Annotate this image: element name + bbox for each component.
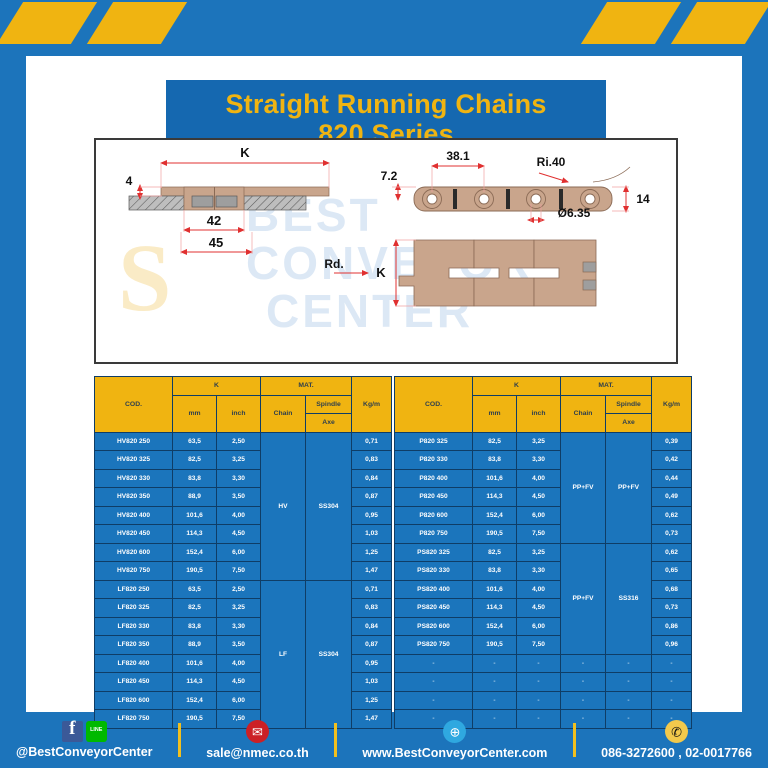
cell-cod: LF820 330: [95, 617, 173, 636]
table-row-empty: ------: [395, 654, 692, 673]
datasheet-panel: Straight Running Chains 820 Series S BES…: [26, 56, 742, 712]
table-row-empty: ------: [395, 673, 692, 692]
cell-kgm: 0,87: [352, 488, 392, 507]
cell-mm: 82,5: [473, 432, 517, 451]
cell-mm: 152,4: [173, 543, 217, 562]
cell-mm: 152,4: [473, 617, 517, 636]
table-header-row: COD. K MAT. Kg/m: [395, 377, 692, 396]
table-row-empty: ------: [395, 691, 692, 710]
cell-spindle-axe: PP+FV: [606, 432, 652, 543]
svg-text:K: K: [240, 145, 250, 160]
cell-kgm: 0,71: [352, 580, 392, 599]
cell-inch: 4,50: [517, 599, 561, 618]
cell-spindle-axe: SS304: [306, 432, 352, 580]
cell-empty: -: [561, 654, 606, 673]
cell-mm: 114,3: [473, 599, 517, 618]
cell-mm: 101,6: [473, 469, 517, 488]
phone-icon[interactable]: ✆: [665, 720, 688, 743]
footer-item-social[interactable]: @BestConveyorCenter: [16, 721, 153, 759]
cell-inch: 3,25: [217, 451, 261, 470]
footer-item-email[interactable]: ✉ sale@nmec.co.th: [206, 720, 309, 760]
cell-mm: 101,6: [173, 506, 217, 525]
cell-mm: 88,9: [173, 488, 217, 507]
cell-empty: -: [517, 673, 561, 692]
cell-kgm: 0,84: [352, 617, 392, 636]
cell-cod: P820 325: [395, 432, 473, 451]
cell-kgm: 0,42: [652, 451, 692, 470]
header-axe: Axe: [606, 414, 652, 433]
chevron-shape: [0, 2, 97, 44]
footer-label-website: www.BestConveyorCenter.com: [362, 746, 547, 760]
cell-kgm: 0,49: [652, 488, 692, 507]
cell-cod: P820 400: [395, 469, 473, 488]
cell-mm: 82,5: [173, 451, 217, 470]
cell-inch: 6,00: [517, 506, 561, 525]
cell-kgm: 1,03: [352, 525, 392, 544]
header-kgm: Kg/m: [652, 377, 692, 433]
cell-inch: 3,30: [217, 469, 261, 488]
cell-empty: -: [517, 654, 561, 673]
contact-footer: @BestConveyorCenter ✉ sale@nmec.co.th ⊕ …: [0, 712, 768, 768]
cell-empty: -: [395, 654, 473, 673]
cell-mm: 190,5: [473, 525, 517, 544]
cell-cod: P820 450: [395, 488, 473, 507]
cell-kgm: 0,83: [352, 451, 392, 470]
cell-empty: -: [395, 691, 473, 710]
cell-cod: PS820 325: [395, 543, 473, 562]
cell-inch: 4,00: [217, 506, 261, 525]
svg-text:Ø6.35: Ø6.35: [558, 206, 591, 220]
cell-cod: LF820 450: [95, 673, 173, 692]
cell-mm: 152,4: [473, 506, 517, 525]
cell-cod: HV820 600: [95, 543, 173, 562]
cell-mm: 82,5: [173, 599, 217, 618]
spec-table-right: COD. K MAT. Kg/m mm inch Chain Spindle A…: [394, 376, 692, 729]
cell-mm: 190,5: [473, 636, 517, 655]
footer-item-website[interactable]: ⊕ www.BestConveyorCenter.com: [362, 720, 547, 760]
cell-cod: PS820 600: [395, 617, 473, 636]
cell-empty: -: [473, 691, 517, 710]
cell-inch: 3,30: [217, 617, 261, 636]
cell-kgm: 0,65: [652, 562, 692, 581]
technical-drawing-panel: S BEST CONVEYOR CENTER: [94, 138, 678, 364]
cell-empty: -: [473, 654, 517, 673]
cell-empty: -: [606, 654, 652, 673]
cell-spindle-axe: SS316: [606, 543, 652, 654]
cell-cod: P820 600: [395, 506, 473, 525]
cell-mm: 114,3: [173, 525, 217, 544]
cell-empty: -: [395, 673, 473, 692]
cell-empty: -: [652, 691, 692, 710]
cell-cod: PS820 450: [395, 599, 473, 618]
footer-label-email: sale@nmec.co.th: [206, 746, 309, 760]
cell-kgm: 0,96: [652, 636, 692, 655]
cell-kgm: 0,62: [652, 543, 692, 562]
cell-cod: PS820 750: [395, 636, 473, 655]
header-mat: MAT.: [561, 377, 652, 396]
cell-inch: 2,50: [217, 580, 261, 599]
svg-text:Ri.40: Ri.40: [537, 155, 566, 169]
cell-inch: 4,00: [517, 469, 561, 488]
cell-cod: LF820 400: [95, 654, 173, 673]
cell-cod: HV820 750: [95, 562, 173, 581]
cell-inch: 4,50: [217, 673, 261, 692]
cell-kgm: 0,73: [652, 525, 692, 544]
cell-kgm: 0,84: [352, 469, 392, 488]
cell-inch: 4,00: [217, 654, 261, 673]
cell-mm: 152,4: [173, 691, 217, 710]
chevron-shape: [87, 2, 187, 44]
cell-empty: -: [652, 673, 692, 692]
cell-mm: 83,8: [473, 562, 517, 581]
cell-mm: 114,3: [473, 488, 517, 507]
footer-label-social: @BestConveyorCenter: [16, 745, 153, 759]
svg-text:7.2: 7.2: [381, 169, 398, 183]
cell-empty: -: [473, 673, 517, 692]
cell-mm: 114,3: [173, 673, 217, 692]
footer-divider: [573, 723, 576, 757]
cell-kgm: 0,62: [652, 506, 692, 525]
header-cod: COD.: [395, 377, 473, 433]
cell-chain: PP+FV: [561, 432, 606, 543]
cell-kgm: 1,47: [352, 562, 392, 581]
cell-kgm: 1,03: [352, 673, 392, 692]
cell-cod: LF820 350: [95, 636, 173, 655]
cell-kgm: 0,68: [652, 580, 692, 599]
facebook-icon[interactable]: [62, 721, 83, 742]
cell-inch: 4,00: [517, 580, 561, 599]
spec-table-left-body: HV820 25063,52,50HVSS3040,71HV820 32582,…: [95, 432, 392, 728]
cell-kgm: 1,25: [352, 691, 392, 710]
cell-cod: HV820 400: [95, 506, 173, 525]
cell-cod: PS820 400: [395, 580, 473, 599]
svg-text:Rd.: Rd.: [324, 257, 343, 271]
cell-cod: P820 750: [395, 525, 473, 544]
cell-mm: 63,5: [173, 432, 217, 451]
cell-mm: 83,8: [173, 469, 217, 488]
cell-inch: 4,50: [517, 488, 561, 507]
spec-table-left: COD. K MAT. Kg/m mm inch Chain Spindle A…: [94, 376, 392, 729]
header-chain: Chain: [561, 395, 606, 432]
cell-kgm: 0,95: [352, 506, 392, 525]
cell-mm: 101,6: [473, 580, 517, 599]
cell-kgm: 0,83: [352, 599, 392, 618]
cell-cod: HV820 350: [95, 488, 173, 507]
header-k: K: [473, 377, 561, 396]
header-spindle: Spindle: [306, 395, 352, 414]
header-chain: Chain: [261, 395, 306, 432]
table-row: P820 32582,53,25PP+FVPP+FV0,39: [395, 432, 692, 451]
chevron-shape: [581, 2, 681, 44]
cell-kgm: 0,71: [352, 432, 392, 451]
cell-kgm: 1,25: [352, 543, 392, 562]
cell-inch: 3,25: [517, 543, 561, 562]
spec-table-right-body: P820 32582,53,25PP+FVPP+FV0,39P820 33083…: [395, 432, 692, 728]
cell-inch: 3,25: [517, 432, 561, 451]
cell-chain: HV: [261, 432, 306, 580]
cell-empty: -: [561, 673, 606, 692]
cell-inch: 6,00: [217, 691, 261, 710]
cell-kgm: 0,39: [652, 432, 692, 451]
cell-empty: -: [517, 691, 561, 710]
cell-inch: 3,50: [217, 488, 261, 507]
cell-cod: PS820 330: [395, 562, 473, 581]
svg-text:42: 42: [207, 213, 221, 228]
cell-kgm: 0,44: [652, 469, 692, 488]
chain-drawing: K 4 42 45: [96, 140, 678, 364]
cell-cod: HV820 330: [95, 469, 173, 488]
svg-text:38.1: 38.1: [446, 149, 470, 163]
cell-inch: 3,30: [517, 562, 561, 581]
header-mm: mm: [473, 395, 517, 432]
header-spindle: Spindle: [606, 395, 652, 414]
table-row: HV820 25063,52,50HVSS3040,71: [95, 432, 392, 451]
cell-kgm: 0,73: [652, 599, 692, 618]
footer-divider: [334, 723, 337, 757]
cell-kgm: 0,86: [652, 617, 692, 636]
cell-inch: 3,25: [217, 599, 261, 618]
cell-inch: 4,50: [217, 525, 261, 544]
cell-cod: LF820 600: [95, 691, 173, 710]
line-icon[interactable]: [86, 721, 107, 742]
cell-inch: 6,00: [517, 617, 561, 636]
cell-mm: 83,8: [173, 617, 217, 636]
cell-mm: 82,5: [473, 543, 517, 562]
cell-cod: LF820 325: [95, 599, 173, 618]
cell-inch: 3,30: [517, 451, 561, 470]
cell-inch: 7,50: [517, 525, 561, 544]
cell-kgm: 0,95: [352, 654, 392, 673]
footer-label-phone: 086-3272600 , 02-0017766: [601, 746, 752, 760]
cell-empty: -: [561, 691, 606, 710]
cell-inch: 3,50: [217, 636, 261, 655]
header-k: K: [173, 377, 261, 396]
cell-spindle-axe: SS304: [306, 580, 352, 728]
header-cod: COD.: [95, 377, 173, 433]
cell-cod: LF820 250: [95, 580, 173, 599]
cell-mm: 190,5: [173, 562, 217, 581]
cell-chain: PP+FV: [561, 543, 606, 654]
cell-inch: 2,50: [217, 432, 261, 451]
cell-chain: LF: [261, 580, 306, 728]
cell-mm: 88,9: [173, 636, 217, 655]
chevron-shape: [671, 2, 768, 44]
cell-inch: 6,00: [217, 543, 261, 562]
header-mat: MAT.: [261, 377, 352, 396]
svg-text:4: 4: [126, 174, 133, 188]
header-mm: mm: [173, 395, 217, 432]
footer-item-phone[interactable]: ✆ 086-3272600 , 02-0017766: [601, 720, 752, 760]
cell-empty: -: [652, 654, 692, 673]
cell-inch: 7,50: [517, 636, 561, 655]
cell-cod: HV820 450: [95, 525, 173, 544]
svg-text:K: K: [376, 265, 386, 280]
table-header-row: COD. K MAT. Kg/m: [95, 377, 392, 396]
top-chevron-decoration: [0, 0, 768, 56]
header-inch: inch: [517, 395, 561, 432]
cell-cod: HV820 250: [95, 432, 173, 451]
cell-kgm: 0,87: [352, 636, 392, 655]
svg-text:14: 14: [636, 192, 650, 206]
header-inch: inch: [217, 395, 261, 432]
cell-cod: P820 330: [395, 451, 473, 470]
cell-mm: 63,5: [173, 580, 217, 599]
header-axe: Axe: [306, 414, 352, 433]
email-icon[interactable]: ✉: [246, 720, 269, 743]
cell-empty: -: [606, 673, 652, 692]
cell-mm: 101,6: [173, 654, 217, 673]
svg-text:45: 45: [209, 235, 223, 250]
footer-divider: [178, 723, 181, 757]
table-row: PS820 32582,53,25PP+FVSS3160,62: [395, 543, 692, 562]
cell-empty: -: [606, 691, 652, 710]
cell-mm: 83,8: [473, 451, 517, 470]
cell-cod: HV820 325: [95, 451, 173, 470]
cell-inch: 7,50: [217, 562, 261, 581]
table-row: LF820 25063,52,50LFSS3040,71: [95, 580, 392, 599]
header-kgm: Kg/m: [352, 377, 392, 433]
globe-icon[interactable]: ⊕: [443, 720, 466, 743]
title-line-1: Straight Running Chains: [225, 89, 546, 119]
